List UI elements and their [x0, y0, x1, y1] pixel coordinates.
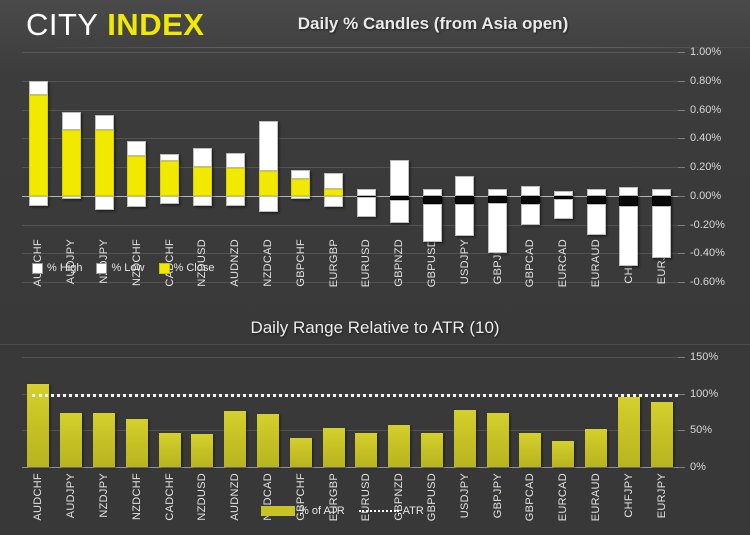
y-tick-mark	[678, 110, 685, 111]
candle-low-wick	[259, 196, 278, 212]
candle	[587, 49, 606, 282]
y-tick-label: -0.60%	[690, 276, 725, 288]
atr-bar	[93, 413, 115, 467]
atr-bar	[487, 413, 509, 467]
candle-body	[619, 196, 638, 206]
candle	[259, 49, 278, 282]
x-axis-label: EURJPY	[656, 473, 668, 518]
x-axis-line	[22, 467, 678, 468]
x-axis-label: USDJPY	[459, 473, 471, 518]
candle-body	[127, 156, 146, 196]
candle-high-wick	[226, 153, 245, 169]
candle-body	[226, 168, 245, 195]
y-tick-mark	[678, 225, 685, 226]
atr-bar	[454, 410, 476, 467]
candle	[423, 49, 442, 282]
candle-high-wick	[652, 189, 671, 196]
candle	[488, 49, 507, 282]
candle-high-wick	[259, 121, 278, 171]
atr-bar	[257, 414, 279, 467]
atr-bar	[388, 425, 410, 467]
x-axis-label: GBPCAD	[524, 473, 536, 521]
candle-low-wick	[455, 204, 474, 236]
candle-low-wick	[652, 206, 671, 258]
atr-bar	[60, 413, 82, 467]
candle-low-wick	[488, 203, 507, 253]
legend-label: ATR	[403, 505, 424, 517]
candle-low-wick	[62, 196, 81, 199]
x-axis-label: EURCAD	[557, 473, 569, 521]
y-tick-mark	[678, 167, 685, 168]
atr-bar	[618, 397, 640, 467]
candle	[193, 49, 212, 282]
gridline	[22, 357, 678, 358]
candle-high-wick	[488, 189, 507, 196]
candle-body	[587, 196, 606, 205]
section-subtitle: Daily Range Relative to ATR (10)	[175, 318, 575, 338]
y-tick-mark	[678, 81, 685, 82]
candle	[390, 49, 409, 282]
x-axis-label: NZDUSD	[196, 473, 208, 521]
atr-bar	[224, 411, 246, 467]
x-axis-label: NZDJPY	[98, 473, 110, 518]
gridline	[22, 253, 678, 254]
y-tick-mark	[678, 52, 685, 53]
gridline	[22, 282, 678, 283]
gridline	[22, 196, 678, 197]
candle	[554, 49, 573, 282]
candle-high-wick	[160, 154, 179, 161]
page-title: Daily % Candles (from Asia open)	[233, 14, 633, 34]
candle-body	[160, 161, 179, 196]
y-tick-label: 150%	[690, 351, 718, 363]
atr-bar	[191, 434, 213, 467]
header: CITY INDEX Daily % Candles (from Asia op…	[0, 0, 750, 49]
atr-reference-line	[32, 394, 678, 397]
atr-bar	[355, 433, 377, 467]
candle-body	[652, 196, 671, 206]
atr-bar	[585, 429, 607, 467]
brand-logo-index: INDEX	[107, 7, 204, 42]
y-tick-label: 1.00%	[690, 46, 721, 58]
candle-low-wick	[357, 197, 376, 217]
y-tick-label: -0.40%	[690, 247, 725, 259]
y-tick-label: 0.80%	[690, 75, 721, 87]
y-tick-mark	[678, 467, 685, 468]
candle-body	[423, 196, 442, 205]
y-tick-label: 0.60%	[690, 104, 721, 116]
candle	[324, 49, 343, 282]
candle	[226, 49, 245, 282]
candle-high-wick	[587, 189, 606, 196]
x-axis-label: AUDCHF	[32, 473, 44, 521]
x-axis-label: CADCHF	[164, 473, 176, 521]
candle-high-wick	[423, 189, 442, 196]
candle	[62, 49, 81, 282]
candle	[127, 49, 146, 282]
candle-low-wick	[423, 204, 442, 241]
candle-high-wick	[619, 187, 638, 196]
gridline	[22, 138, 678, 139]
candle-high-wick	[357, 189, 376, 196]
atr-bar	[519, 433, 541, 467]
x-axis-label: NZDCHF	[131, 473, 143, 520]
candle-high-wick	[127, 141, 146, 155]
candle	[455, 49, 474, 282]
candle-body	[95, 130, 114, 196]
candle-body	[521, 196, 540, 205]
candle	[619, 49, 638, 282]
brand-logo-city: CITY	[26, 7, 98, 42]
gridline	[22, 110, 678, 111]
candle-low-wick	[390, 200, 409, 223]
candle-high-wick	[521, 186, 540, 196]
candle-body	[291, 179, 310, 196]
candle-body	[455, 196, 474, 205]
y-tick-mark	[678, 196, 685, 197]
x-axis-label: AUDJPY	[65, 473, 77, 518]
atr-bar	[552, 441, 574, 467]
candle-body	[62, 130, 81, 196]
candle-low-wick	[226, 196, 245, 206]
y-tick-label: 0%	[690, 461, 706, 473]
brand-logo: CITY INDEX	[26, 7, 204, 43]
gridline	[22, 430, 678, 431]
y-tick-mark	[678, 253, 685, 254]
candle-low-wick	[554, 199, 573, 219]
y-tick-label: -0.20%	[690, 219, 725, 231]
x-axis-label: GBPJPY	[492, 473, 504, 518]
header-divider	[56, 47, 750, 48]
atr-bar	[323, 428, 345, 467]
y-tick-label: 0.00%	[690, 190, 721, 202]
y-tick-label: 0.20%	[690, 161, 721, 173]
atr-plot-area	[22, 357, 678, 467]
candle-high-wick	[291, 170, 310, 179]
gridline	[22, 167, 678, 168]
atr-bar	[126, 419, 148, 467]
candle	[357, 49, 376, 282]
candle-legend: % High% Low% Close	[32, 262, 214, 274]
candle-body	[324, 189, 343, 196]
candle-low-wick	[160, 196, 179, 205]
candle-chart-panel: 1.00%0.80%0.60%0.40%0.20%0.00%-0.20%-0.4…	[0, 49, 750, 319]
candle	[160, 49, 179, 282]
atr-bar	[159, 433, 181, 467]
candle-low-wick	[521, 204, 540, 224]
y-tick-mark	[678, 138, 685, 139]
candle-low-wick	[324, 196, 343, 208]
gridline	[22, 52, 678, 53]
legend-swatch-olive	[261, 506, 295, 516]
candle-low-wick	[29, 196, 48, 206]
atr-bar	[651, 402, 673, 467]
candle-high-wick	[62, 112, 81, 129]
y-tick-label: 0.40%	[690, 132, 721, 144]
candle-high-wick	[29, 81, 48, 95]
candle-low-wick	[95, 196, 114, 210]
candle-low-wick	[619, 206, 638, 266]
candle-low-wick	[587, 204, 606, 234]
x-axis-label: GBPUSD	[426, 473, 438, 521]
atr-chart-panel: 150%100%50%0% AUDCHFAUDJPYNZDJPYNZDCHFCA…	[0, 345, 750, 535]
candle-high-wick	[95, 115, 114, 129]
candle	[291, 49, 310, 282]
gridline	[22, 225, 678, 226]
legend-swatch-dotted	[359, 510, 399, 512]
candle	[29, 49, 48, 282]
y-tick-mark	[678, 282, 685, 283]
candle-body	[488, 196, 507, 203]
candle	[652, 49, 671, 282]
x-axis-label: EURAUD	[590, 473, 602, 521]
candle-high-wick	[193, 148, 212, 167]
y-tick-mark	[678, 394, 685, 395]
gridline	[22, 81, 678, 82]
legend-label: % of ATR	[299, 505, 345, 517]
x-axis-label: AUDNZD	[229, 473, 241, 521]
y-tick-label: 100%	[690, 388, 718, 400]
y-tick-mark	[678, 430, 685, 431]
legend-item: % of ATR	[261, 505, 345, 517]
candle-high-wick	[455, 176, 474, 196]
dashboard-root: CITY INDEX Daily % Candles (from Asia op…	[0, 0, 750, 535]
y-tick-mark	[678, 357, 685, 358]
candle-low-wick	[127, 196, 146, 208]
candle	[521, 49, 540, 282]
candle-low-wick	[291, 196, 310, 199]
atr-bar	[421, 433, 443, 467]
atr-bar	[290, 438, 312, 467]
candle-low-wick	[193, 196, 212, 206]
candle-body	[259, 171, 278, 195]
candle-body	[29, 95, 48, 196]
legend-item: ATR	[359, 505, 424, 517]
atr-legend: % of ATRATR	[261, 505, 424, 517]
candle	[95, 49, 114, 282]
y-tick-label: 50%	[690, 424, 712, 436]
x-axis-label: CHFJPY	[623, 473, 635, 518]
candle-body	[193, 167, 212, 196]
candle-high-wick	[390, 160, 409, 196]
candle-high-wick	[324, 173, 343, 189]
